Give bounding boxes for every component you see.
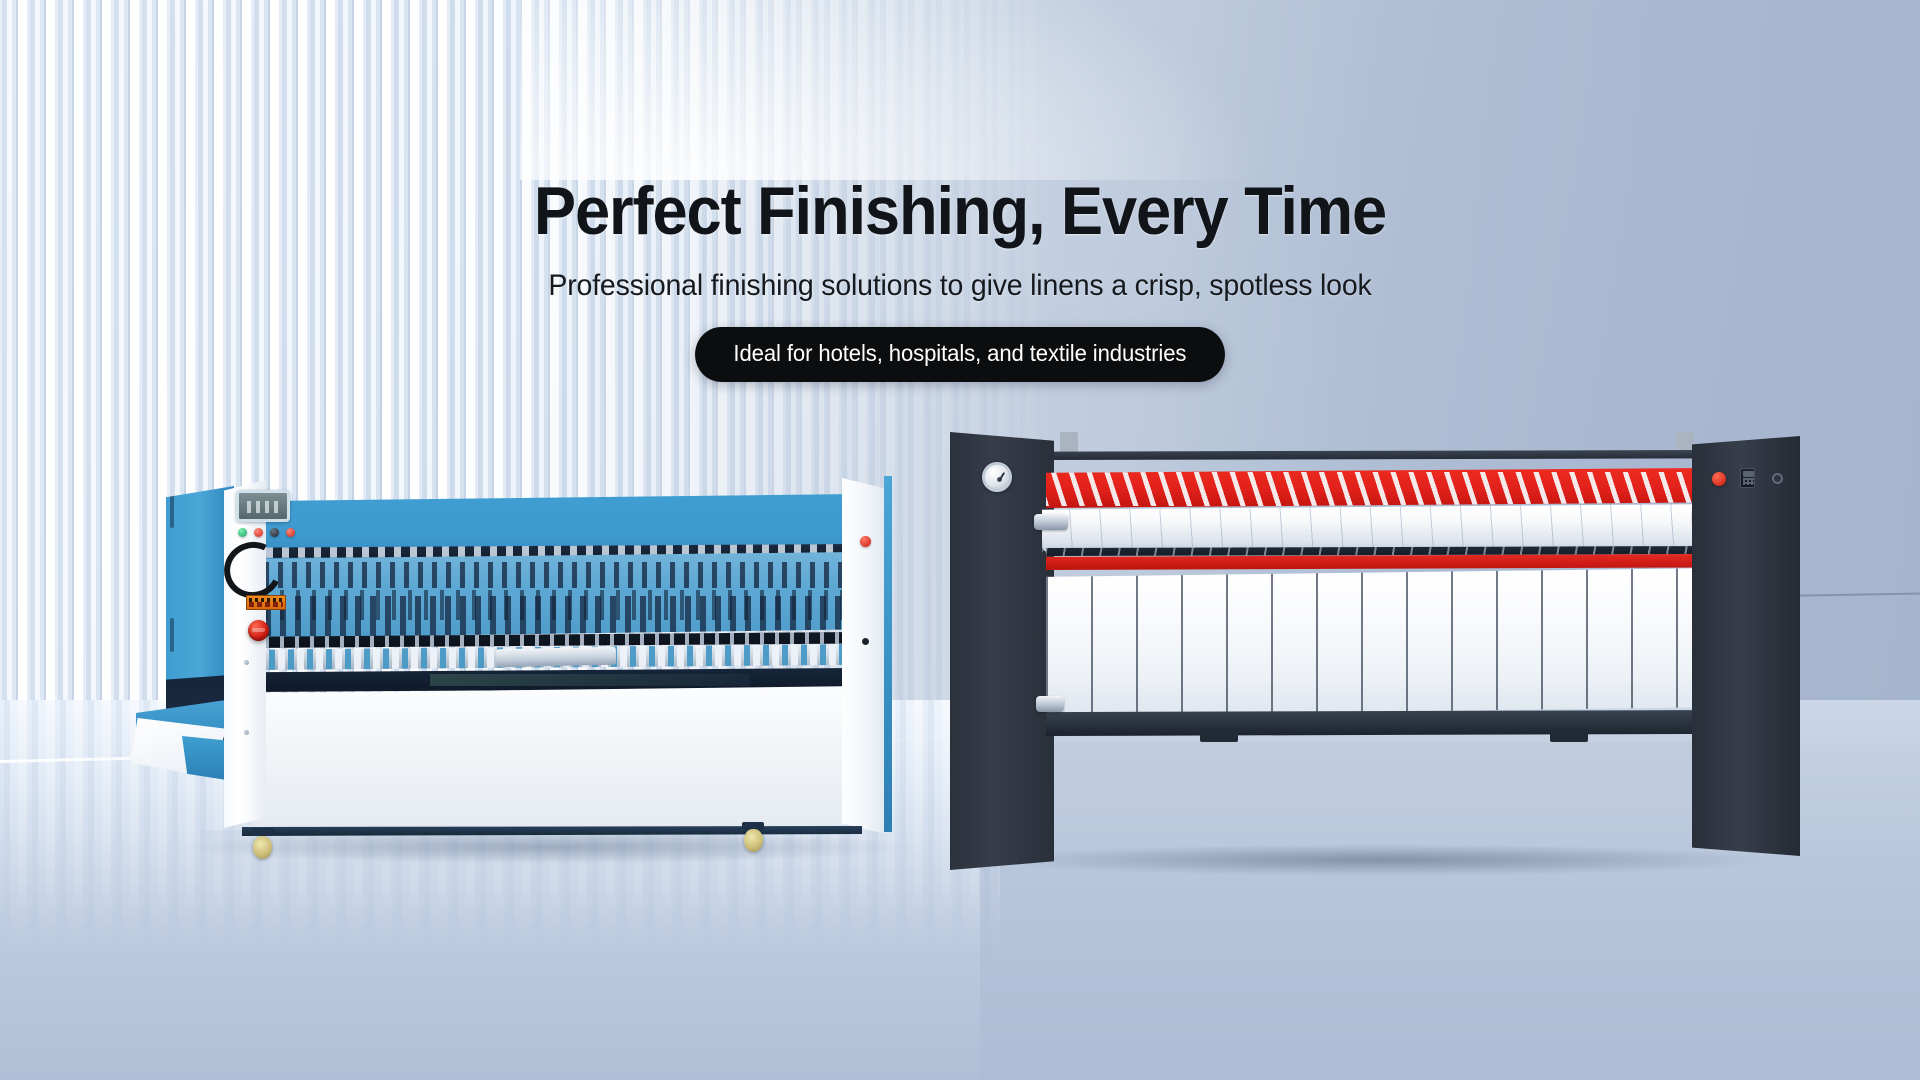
hero-subtitle: Professional finishing solutions to give… [48, 269, 1872, 303]
ironer-top-rail [1046, 450, 1710, 460]
folding-machine-right-blue-edge [884, 476, 892, 832]
tower-vent-slot-top [170, 494, 174, 528]
emergency-stop-switch[interactable] [248, 620, 269, 641]
folding-machine-right-end-panel [842, 478, 886, 834]
ironer-red-lower-band [1046, 554, 1712, 570]
selector-knob[interactable] [1772, 473, 1783, 484]
ironer-foot [1200, 728, 1238, 742]
hero-text-block: Perfect Finishing, Every Time Profession… [0, 176, 1920, 382]
caster-wheel [253, 836, 272, 859]
mode-button[interactable] [270, 528, 279, 537]
end-panel-port [862, 638, 869, 645]
badge-row: Ideal for hotels, hospitals, and textile… [0, 327, 1920, 382]
hero-banner: Perfect Finishing, Every Time Profession… [0, 0, 1920, 1080]
end-panel-power-button[interactable] [860, 536, 871, 547]
ironer-padded-roller [1042, 504, 1718, 552]
emergency-stop-button[interactable] [1712, 472, 1726, 486]
ironer-front-panel-segments [1046, 568, 1718, 716]
start-button[interactable] [238, 528, 247, 537]
reset-button[interactable] [286, 528, 295, 537]
keypad-display[interactable] [1740, 468, 1755, 488]
page-title: Perfect Finishing, Every Time [67, 176, 1853, 247]
tower-vent-slot-bottom [170, 618, 174, 652]
ironer-roller-bearing-left [1034, 514, 1068, 530]
warning-label [246, 595, 286, 610]
ironer-right-end-panel [1692, 436, 1800, 856]
ironer-left-end-panel [950, 432, 1054, 870]
lcd-display[interactable] [236, 490, 290, 522]
folding-machine-base-rail [242, 826, 862, 836]
folding-machine-cabinet [250, 686, 862, 834]
panel-screw [244, 730, 249, 735]
caster-wheel [744, 829, 763, 852]
pressure-gauge [982, 462, 1012, 492]
ironer-shadow [980, 844, 1780, 876]
ceiling-light-arc [520, 0, 1340, 180]
flatwork-ironer [950, 528, 1810, 868]
ironer-bracket-left [1060, 432, 1078, 452]
ironer-red-vent-hood [1046, 468, 1710, 508]
ironer-foot [1550, 728, 1588, 742]
panel-screw [244, 660, 249, 665]
caster-mount [252, 828, 274, 836]
status-badge: Ideal for hotels, hospitals, and textile… [695, 327, 1225, 382]
folding-machine [166, 500, 936, 860]
ironer-bracket-right [1676, 432, 1694, 452]
stop-button[interactable] [254, 528, 263, 537]
folding-machine-perforated-panel [250, 552, 856, 638]
ironer-base-plinth [1046, 710, 1724, 736]
folding-machine-body [166, 500, 936, 838]
ironer-drive-shaft-left [1036, 696, 1064, 712]
folding-machine-roller-core [496, 647, 616, 668]
